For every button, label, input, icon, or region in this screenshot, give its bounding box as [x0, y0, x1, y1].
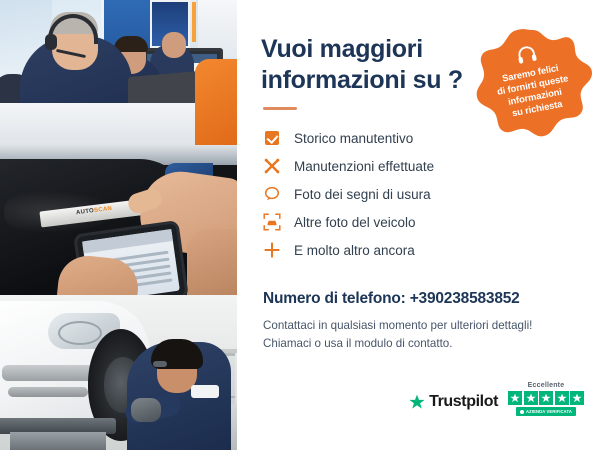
car-grille-lower: [8, 387, 88, 397]
headline-line-2: informazioni su ?: [261, 66, 463, 94]
rating-label: Eccellente: [528, 382, 565, 389]
trustpilot-block[interactable]: Trustpilot Eccellente: [409, 382, 584, 416]
trustpilot-logo-text: Trustpilot: [429, 393, 498, 411]
title-divider: [263, 107, 297, 110]
content-panel: Vuoi maggiori informazioni su ? Storico …: [237, 0, 600, 450]
headline-line-1: Vuoi maggiori: [261, 35, 423, 63]
car-frame-icon: [263, 213, 281, 231]
list-item: E molto altro ancora: [263, 236, 578, 264]
lift-platform: [10, 432, 106, 450]
contact-subtext: Contattaci in qualsiasi momento per ulte…: [263, 317, 578, 353]
trustpilot-logo[interactable]: Trustpilot: [409, 393, 498, 416]
checkbox-checked-icon: [263, 129, 281, 147]
trustpilot-star-icon: [409, 394, 425, 410]
star-filled: [539, 391, 553, 405]
star-filled: [570, 391, 584, 405]
promo-banner: AUTOSCAN: [0, 0, 600, 450]
star-filled: [555, 391, 569, 405]
colleague-far-head: [162, 32, 186, 58]
verified-badge-text: AZIENDA VERIFICATA: [526, 409, 572, 414]
badge-content: Saremo felici di fornirti queste informa…: [464, 18, 600, 156]
feature-label: Foto dei segni di usura: [294, 187, 431, 202]
verified-check-icon: [520, 410, 524, 414]
feature-label: Storico manutentivo: [294, 131, 413, 146]
speech-bubble-icon: [263, 185, 281, 203]
star-filled: [524, 391, 538, 405]
list-item: Altre foto del veicolo: [263, 208, 578, 236]
contact-subtext-line-1: Contattaci in qualsiasi momento per ulte…: [263, 317, 578, 335]
phone-number[interactable]: Numero di telefono: +390238583852: [263, 290, 578, 308]
call-center-photo: [0, 0, 237, 145]
plus-icon: [263, 241, 281, 259]
contact-subtext-line-2: Chiamaci o usa il modulo di contatto.: [263, 335, 578, 353]
list-item: Manutenzioni effettuate: [263, 152, 578, 180]
safety-glasses: [153, 361, 167, 367]
uniform-logo: [191, 385, 219, 398]
star-rating: [508, 391, 584, 405]
badge-text: Saremo felici di fornirti queste informa…: [494, 60, 574, 121]
mechanic-wheel-photo: [0, 295, 237, 450]
headset-earcup: [45, 34, 57, 50]
technician-forearm: [187, 229, 237, 295]
list-item: Foto dei segni di usura: [263, 180, 578, 208]
trustpilot-rating: Eccellente: [508, 382, 584, 416]
feature-label: Manutenzioni effettuate: [294, 159, 434, 174]
car-grille-upper: [2, 365, 98, 381]
work-glove: [131, 398, 161, 422]
photo-column: AUTOSCAN: [0, 0, 237, 450]
callout-badge: Saremo felici di fornirti queste informa…: [474, 28, 592, 146]
vehicle-inspection-photo: AUTOSCAN: [0, 145, 237, 295]
verified-badge: AZIENDA VERIFICATA: [516, 407, 576, 416]
headset-icon: [514, 43, 539, 67]
feature-label: Altre foto del veicolo: [294, 215, 416, 230]
feature-label: E molto altro ancora: [294, 243, 415, 258]
orange-signage: [195, 59, 237, 145]
star-filled: [508, 391, 522, 405]
page-title: Vuoi maggiori informazioni su ?: [261, 34, 476, 95]
tools-cross-icon: [263, 157, 281, 175]
contact-block: Numero di telefono: +390238583852 Contat…: [263, 290, 578, 353]
